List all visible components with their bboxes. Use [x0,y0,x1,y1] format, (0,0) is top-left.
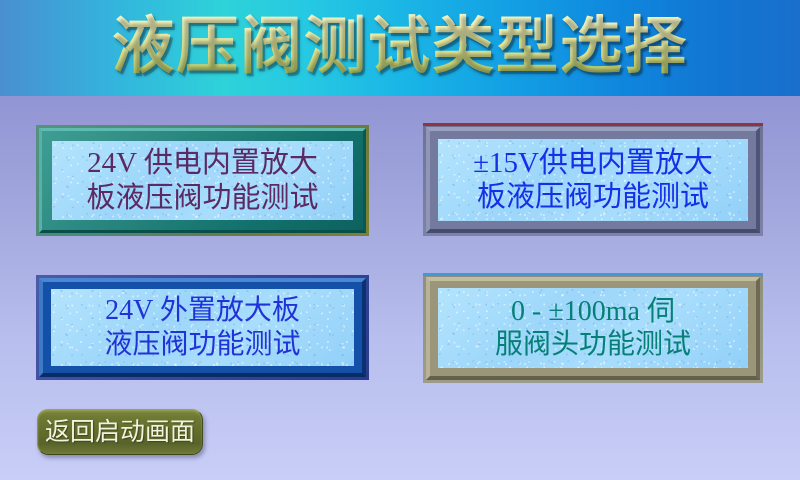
page-title: 液压阀测试类型选择 [0,0,800,96]
tile-24v-external-amp[interactable]: 24V 外置放大板 液压阀功能测试 [36,275,369,380]
tile-label-line2: 板液压阀功能测试 [86,181,318,215]
tile-face[interactable]: ±15V供电内置放大 板液压阀功能测试 [438,139,748,221]
tile-pm15v-builtin-amp[interactable]: ±15V供电内置放大 板液压阀功能测试 [423,123,763,236]
tile-label-line2: 服阀头功能测试 [495,328,691,361]
tile-face[interactable]: 24V 外置放大板 液压阀功能测试 [51,289,354,366]
tile-face[interactable]: 0 - ±100ma 伺 服阀头功能测试 [438,288,748,368]
tile-label-line1: 24V 供电内置放大 [87,146,318,180]
app-screen: 液压阀测试类型选择 液压阀测试类型选择 24V 供电内置放大 板液压阀功能测试 … [0,0,800,480]
return-button-label: 返回启动画面 [45,420,195,445]
tile-24v-builtin-amp[interactable]: 24V 供电内置放大 板液压阀功能测试 [36,125,369,236]
return-to-startup-button[interactable]: 返回启动画面 [37,409,203,455]
tile-label-line1: 0 - ±100ma 伺 [511,295,675,328]
tile-servo-valve-100ma[interactable]: 0 - ±100ma 伺 服阀头功能测试 [423,273,763,383]
header-banner: 液压阀测试类型选择 液压阀测试类型选择 [0,0,800,96]
tile-label-line2: 板液压阀功能测试 [477,180,709,214]
tile-face[interactable]: 24V 供电内置放大 板液压阀功能测试 [52,141,353,220]
tile-label-line1: ±15V供电内置放大 [473,146,713,180]
tile-label-line2: 液压阀功能测试 [104,328,300,361]
tile-label-line1: 24V 外置放大板 [105,294,300,327]
